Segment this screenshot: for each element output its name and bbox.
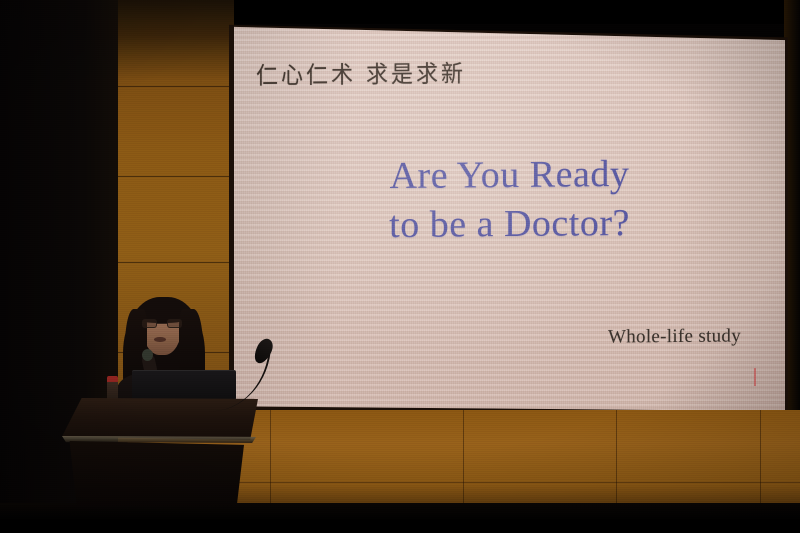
water-bottle-cap (107, 376, 118, 382)
wooden-lectern (62, 398, 258, 506)
mouth (154, 337, 166, 342)
projection-screen: 仁心仁术 求是求新 Are You Ready to be a Doctor? … (234, 23, 785, 411)
laser-pointer-mark (754, 368, 756, 386)
slide-title-line-2: to be a Doctor? (234, 197, 785, 250)
handheld-microphone (142, 349, 153, 361)
lectern-base (66, 441, 244, 505)
slide-subtitle: Whole-life study (608, 325, 741, 348)
gooseneck-microphone (196, 336, 282, 412)
stage-floor (0, 503, 800, 533)
lecture-hall-photo: 仁心仁术 求是求新 Are You Ready to be a Doctor? … (0, 0, 800, 533)
slide-content: 仁心仁术 求是求新 Are You Ready to be a Doctor? … (234, 23, 785, 411)
slide-title: Are You Ready to be a Doctor? (234, 149, 785, 251)
slide-title-line-1: Are You Ready (390, 153, 630, 197)
slide-calligraphy-header: 仁心仁术 求是求新 (256, 55, 466, 92)
glasses-icon (142, 319, 182, 328)
